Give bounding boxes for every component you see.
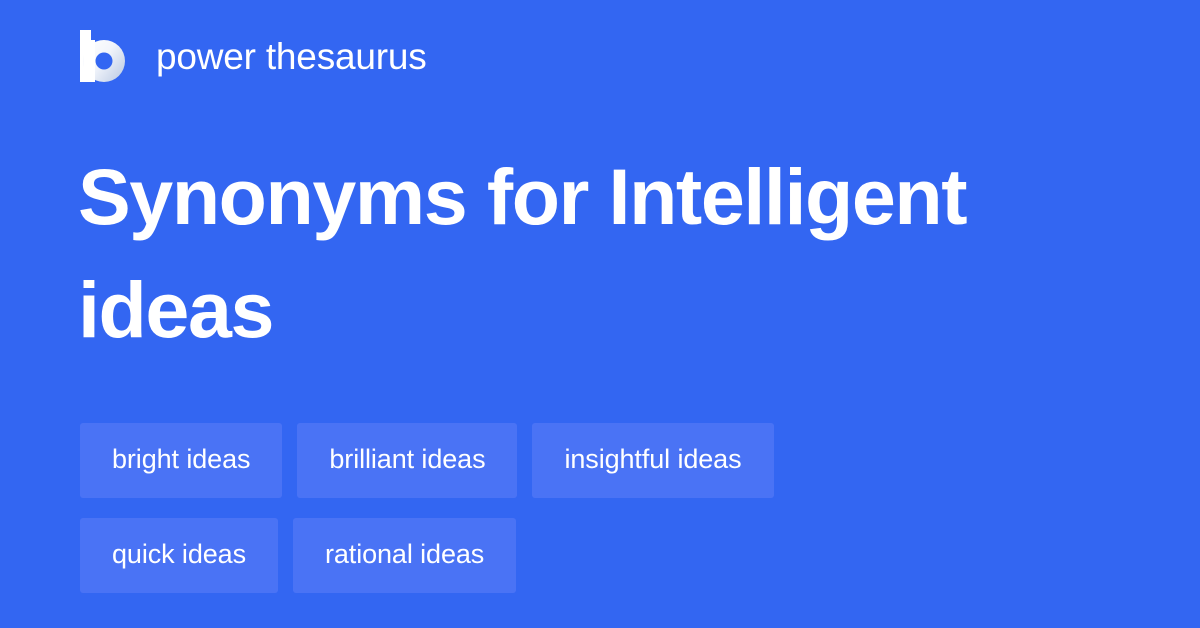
power-thesaurus-b-logo-icon — [80, 30, 126, 82]
page-title-line-2: ideas — [78, 265, 273, 354]
page-title: Synonyms for Intelligent ideas — [78, 140, 1088, 366]
synonym-chip-list: bright ideas brilliant ideas insightful … — [80, 423, 980, 593]
synonym-chip[interactable]: brilliant ideas — [297, 423, 517, 498]
page-title-line-1: Synonyms for Intelligent — [78, 152, 966, 241]
share-card: power thesaurus Synonyms for Intelligent… — [0, 0, 1200, 628]
synonym-chip[interactable]: quick ideas — [80, 518, 278, 593]
brand-name: power thesaurus — [156, 38, 427, 75]
synonym-chip[interactable]: bright ideas — [80, 423, 282, 498]
synonym-chip[interactable]: insightful ideas — [532, 423, 773, 498]
synonym-chip[interactable]: rational ideas — [293, 518, 516, 593]
brand-header[interactable]: power thesaurus — [80, 28, 427, 84]
